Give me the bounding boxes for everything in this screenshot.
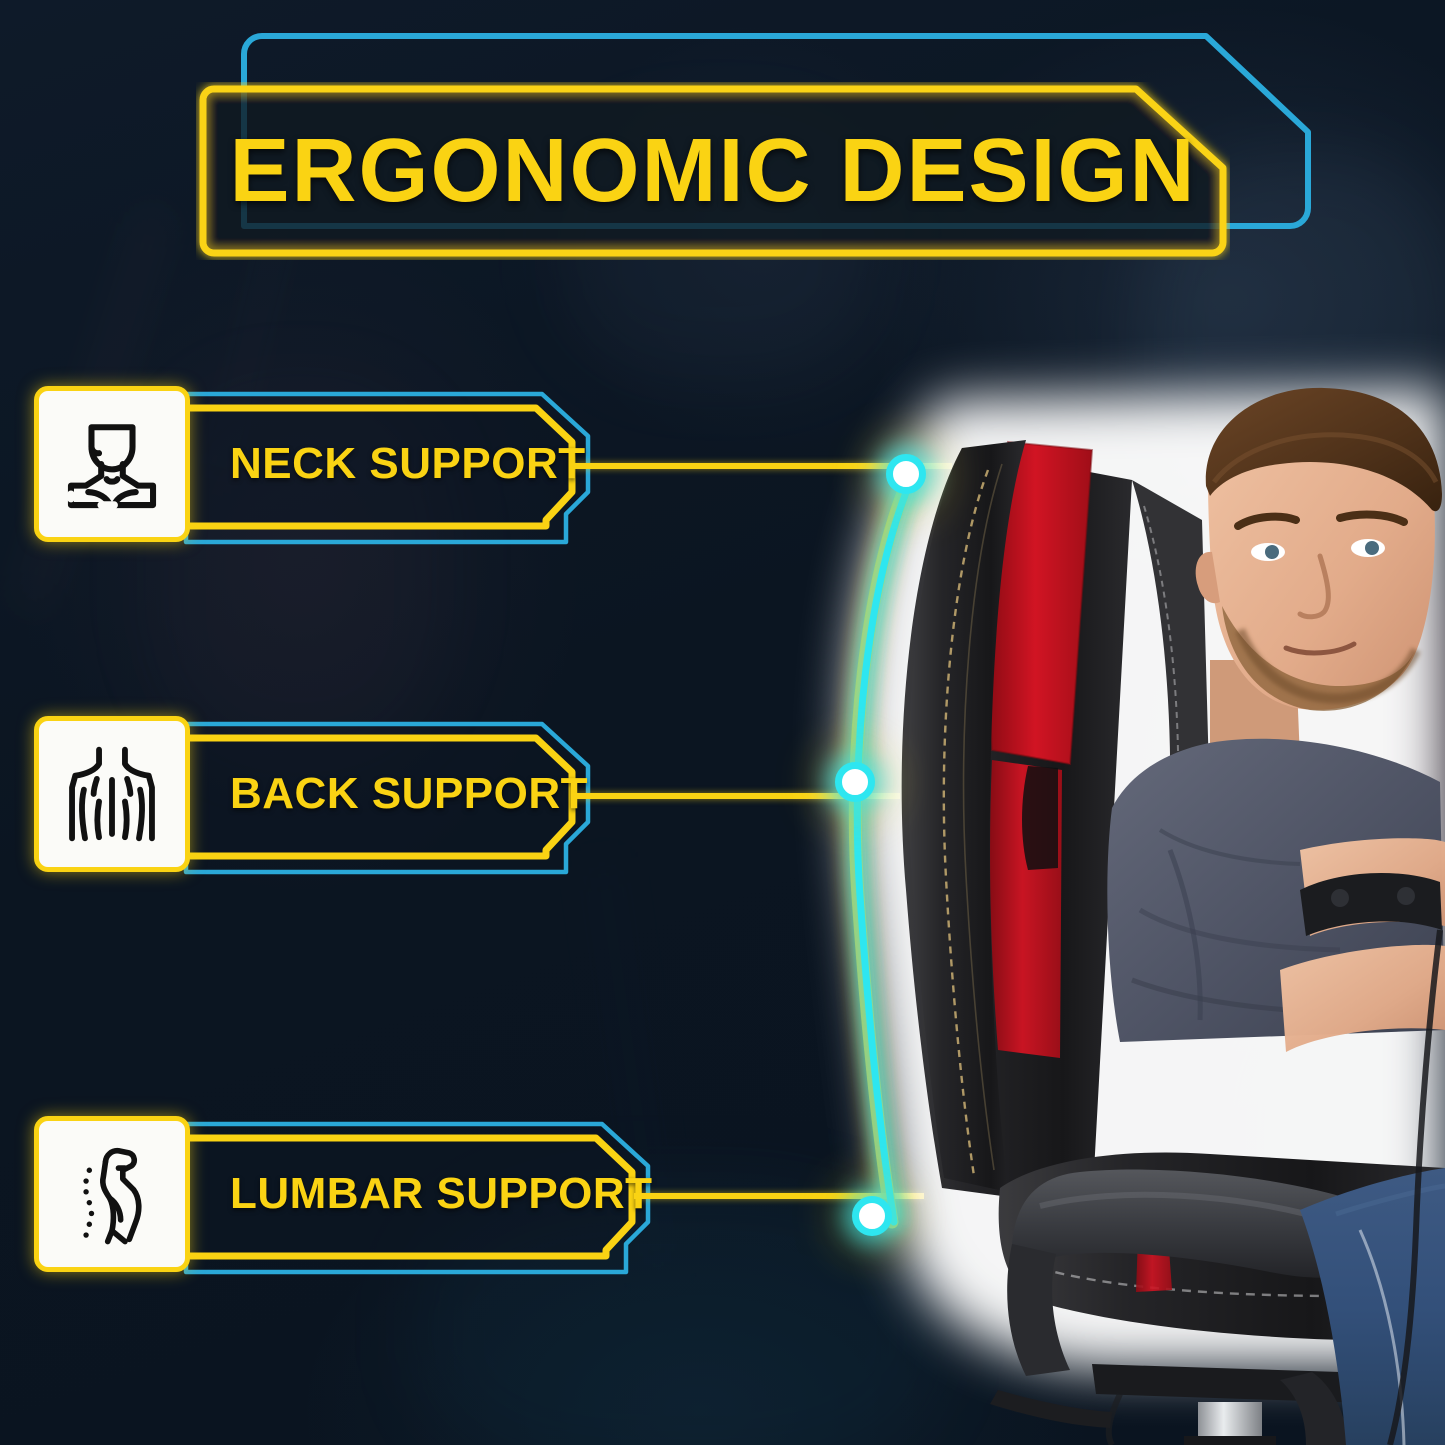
neck-support-icon-box <box>34 386 190 542</box>
chair-illustration <box>740 330 1445 1445</box>
neck-support-plate: NECK SUPPORT <box>174 380 600 548</box>
person-head-neck-shoulders-icon <box>58 410 166 518</box>
neck-hotspot[interactable] <box>886 454 926 494</box>
back-support-icon-box <box>34 716 190 872</box>
lumbar-hotspot[interactable] <box>852 1196 892 1236</box>
product-photo-gaming-chair <box>740 330 1445 1445</box>
title-banner: ERGONOMIC DESIGN <box>196 28 1316 258</box>
human-back-torso-spine-icon <box>58 740 166 848</box>
lumbar-support-plate: LUMBAR SUPPORT <box>174 1110 660 1278</box>
back-hotspot[interactable] <box>835 762 875 802</box>
infographic-canvas: ERGONOMIC DESIGN <box>0 0 1445 1445</box>
lumbar-support-label: LUMBAR SUPPORT <box>230 1110 653 1278</box>
page-title: ERGONOMIC DESIGN <box>196 82 1230 260</box>
neck-support-label: NECK SUPPORT <box>230 380 586 548</box>
back-support-label: BACK SUPPORT <box>230 710 588 878</box>
side-profile-posture-spine-icon <box>58 1140 166 1248</box>
back-support-plate: BACK SUPPORT <box>174 710 600 878</box>
lumbar-support-icon-box <box>34 1116 190 1272</box>
